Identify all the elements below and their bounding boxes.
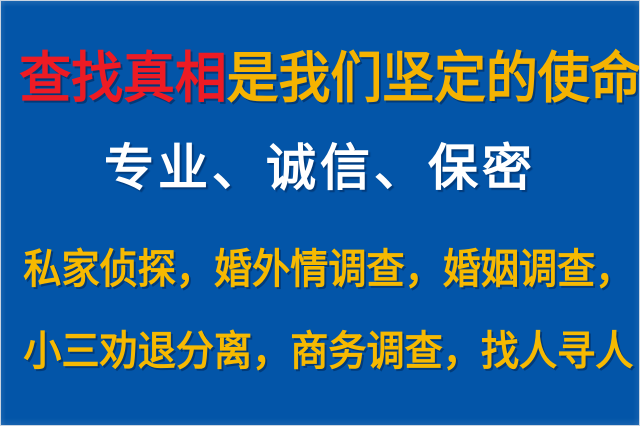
- advertisement-poster: 查找真相是我们坚定的使命 专业、诚信、保密 私家侦探，婚外情调查，婚姻调查， 小…: [0, 0, 640, 426]
- headline-emphasis-text: 查找真相: [19, 46, 226, 110]
- core-values-line: 专业、诚信、保密: [1, 143, 639, 193]
- headline-rest-text: 是我们坚定的使命: [227, 46, 640, 110]
- services-line-1: 私家侦探，婚外情调查，婚姻调查，: [23, 249, 616, 290]
- headline-slogan: 查找真相是我们坚定的使命: [19, 51, 620, 106]
- services-line-2: 小三劝退分离，商务调查，找人寻人: [23, 331, 616, 372]
